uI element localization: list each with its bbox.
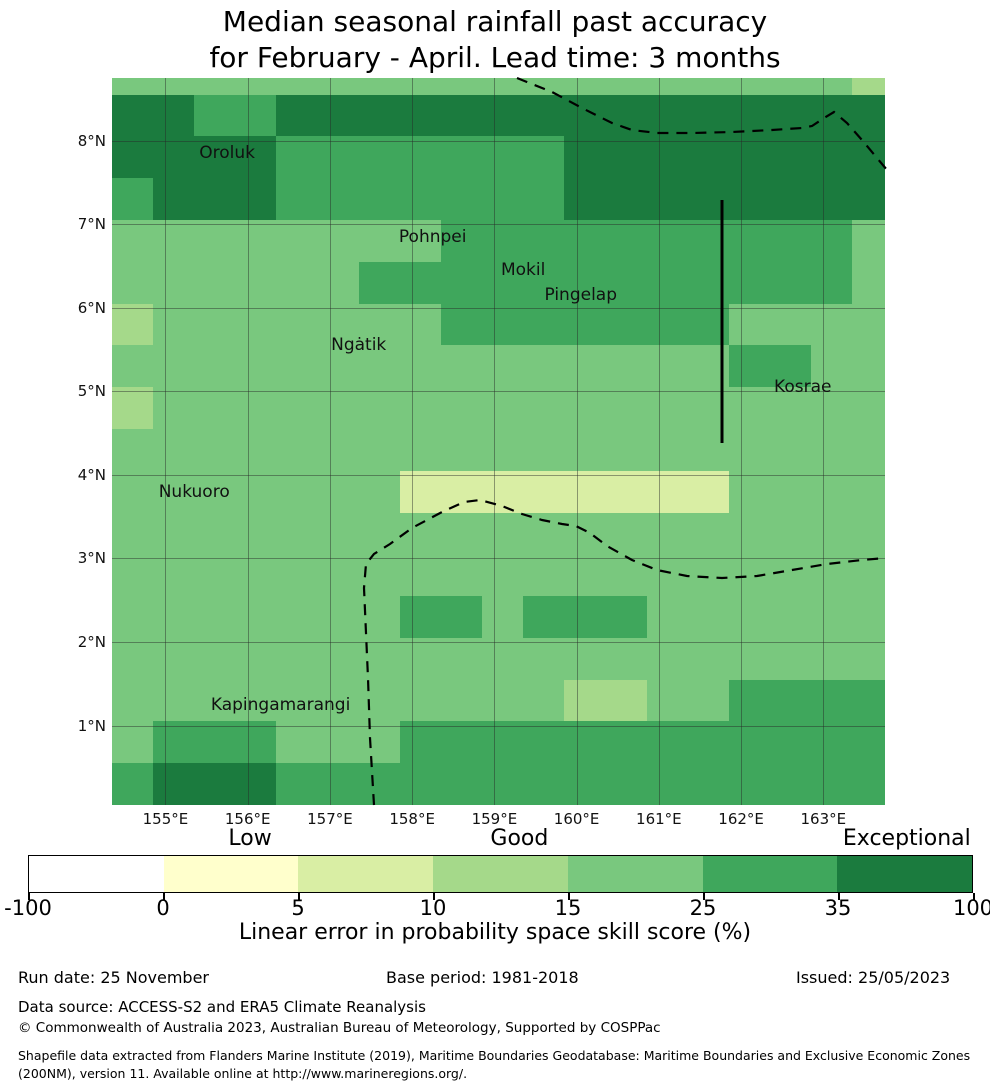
- colorbar-segment: [164, 856, 299, 892]
- run-date: Run date: 25 November: [18, 968, 209, 987]
- place-label: Mokil: [501, 260, 545, 280]
- shapefile-credit-line-2: (200NM), version 11. Available online at…: [18, 1066, 467, 1081]
- data-source: Data source: ACCESS-S2 and ERA5 Climate …: [18, 998, 426, 1016]
- colorbar-segment: [29, 856, 164, 892]
- colorbar-qualifier: Low: [228, 826, 271, 851]
- y-axis-tick-label: 1°N: [78, 717, 106, 735]
- colorbar-tick-label: -100: [4, 896, 52, 920]
- y-axis-tick-label: 2°N: [78, 633, 106, 651]
- colorbar-tick-label: 100: [953, 896, 990, 920]
- copyright-notice: © Commonwealth of Australia 2023, Austra…: [18, 1020, 661, 1036]
- y-axis-tick-label: 5°N: [78, 382, 106, 400]
- colorbar-tick-label: 10: [420, 896, 447, 920]
- footer: Run date: 25 November Base period: 1981-…: [0, 968, 990, 1080]
- y-axis-tick-label: 3°N: [78, 549, 106, 567]
- title-line-2: for February - April. Lead time: 3 month…: [0, 40, 990, 76]
- colorbar-segment: [837, 856, 972, 892]
- y-axis-tick-label: 7°N: [78, 215, 106, 233]
- place-label: Nukuoro: [159, 482, 230, 502]
- map-panel[interactable]: OrolukPohnpeiMokilPingelapNgȧtikKosraeNu…: [112, 78, 885, 805]
- y-axis-tick-label: 6°N: [78, 299, 106, 317]
- colorbar-qualifier: Good: [490, 826, 548, 851]
- title-line-1: Median seasonal rainfall past accuracy: [0, 4, 990, 40]
- place-label: Kapingamarangi: [211, 695, 350, 715]
- colorbar-axis-label: Linear error in probability space skill …: [0, 920, 990, 945]
- shapefile-credit-line-1: Shapefile data extracted from Flanders M…: [18, 1048, 970, 1063]
- colorbar-tick-label: 5: [291, 896, 304, 920]
- y-axis-tick-label: 4°N: [78, 466, 106, 484]
- y-axis-tick-label: 8°N: [78, 132, 106, 150]
- colorbar-tick-label: 0: [156, 896, 169, 920]
- colorbar-segment: [568, 856, 703, 892]
- colorbar-tick-label: 35: [825, 896, 852, 920]
- colorbar-qualifier: Exceptional: [843, 826, 971, 851]
- colorbar-segment: [298, 856, 433, 892]
- colorbar-tick-label: 15: [555, 896, 582, 920]
- footer-row-primary: Run date: 25 November Base period: 1981-…: [18, 968, 972, 992]
- base-period: Base period: 1981-2018: [386, 968, 579, 987]
- place-label: Pohnpei: [399, 227, 467, 247]
- page-title: Median seasonal rainfall past accuracy f…: [0, 4, 990, 76]
- colorbar-gradient: [28, 855, 973, 893]
- colorbar-tick-label: 25: [690, 896, 717, 920]
- colorbar-segment: [433, 856, 568, 892]
- place-label: Oroluk: [199, 143, 255, 163]
- place-label: Pingelap: [544, 285, 617, 305]
- place-label: Ngȧtik: [331, 335, 386, 355]
- place-label: Kosrae: [774, 377, 831, 397]
- y-axis-ticks: 1°N2°N3°N4°N5°N6°N7°N8°N: [14, 78, 106, 805]
- colorbar-segment: [703, 856, 838, 892]
- issued-date: Issued: 25/05/2023: [796, 968, 950, 987]
- colorbar[interactable]: LowGoodExceptional -1000510152535100: [0, 826, 990, 926]
